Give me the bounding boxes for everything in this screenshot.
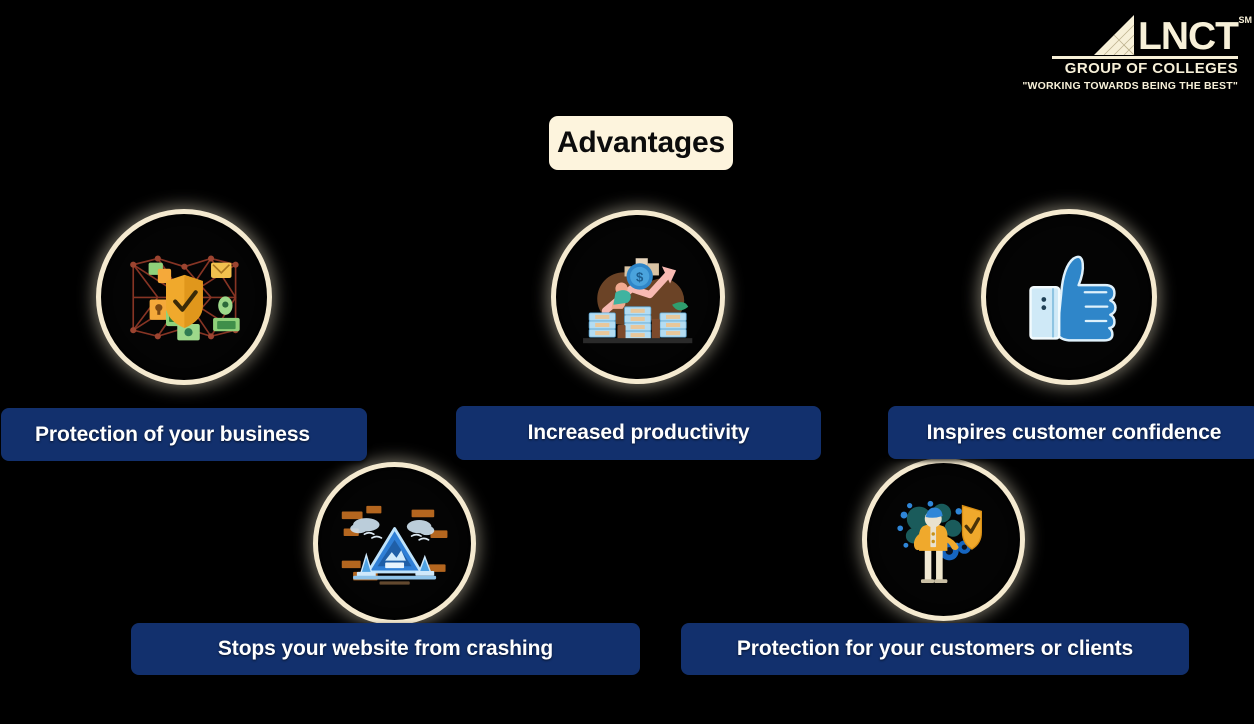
logo-top-row: LNCT SM (1090, 12, 1238, 55)
logo-tagline: "WORKING TOWARDS BEING THE BEST" (1022, 80, 1238, 92)
advantage-icon-circle-5 (862, 458, 1025, 621)
advantage-label-text-1: Protection of your business (35, 423, 310, 447)
logo-wordmark-wrap: LNCT SM (1138, 19, 1238, 55)
thumbs-up-icon (1008, 236, 1131, 359)
advantage-icon-circle-4 (313, 462, 476, 625)
logo-wordmark: LNCT (1138, 19, 1238, 55)
logo-subtitle: GROUP OF COLLEGES (1065, 60, 1238, 77)
advantage-label-5[interactable]: Protection for your customers or clients (681, 623, 1189, 675)
page-title-text: Advantages (557, 126, 725, 160)
advantage-label-4[interactable]: Stops your website from crashing (131, 623, 640, 675)
website-maintenance-warning-icon (338, 487, 451, 600)
page-title: Advantages (549, 116, 733, 170)
advantage-label-text-2: Increased productivity (528, 421, 750, 445)
advantage-icon-circle-2: $ (551, 210, 725, 384)
network-shield-check-icon (123, 236, 246, 359)
advantage-label-2[interactable]: Increased productivity (456, 406, 821, 460)
advantage-icon-circle-1 (96, 209, 272, 385)
advantages-slide: LNCT SM GROUP OF COLLEGES "WORKING TOWAR… (0, 0, 1254, 724)
advantage-icon-circle-3 (981, 209, 1157, 385)
advantage-label-text-3: Inspires customer confidence (927, 421, 1222, 445)
advantage-label-text-4: Stops your website from crashing (218, 637, 553, 661)
triangle-mountain-icon (1090, 13, 1136, 55)
svg-text:$: $ (636, 270, 644, 285)
advantage-label-text-5: Protection for your customers or clients (737, 637, 1133, 661)
advantage-label-3[interactable]: Inspires customer confidence (888, 406, 1254, 459)
growth-money-arrow-icon: $ (577, 236, 698, 357)
advantage-label-1[interactable]: Protection of your business (1, 408, 367, 461)
lnct-logo: LNCT SM GROUP OF COLLEGES "WORKING TOWAR… (1014, 12, 1238, 92)
logo-service-mark: SM (1239, 15, 1253, 25)
person-shield-gears-icon (887, 483, 1000, 596)
